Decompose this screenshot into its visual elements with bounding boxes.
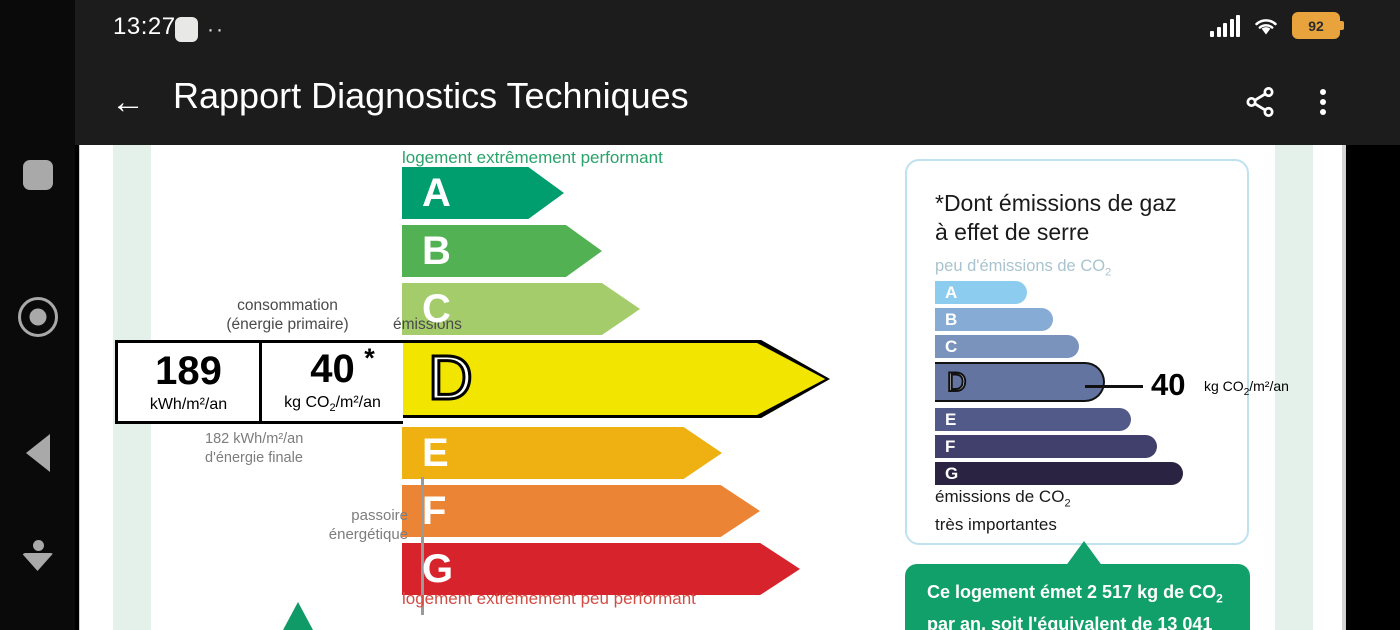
dpe-bar-g-shape xyxy=(402,543,800,595)
co2-value-unit: kg CO2/m²/an xyxy=(1204,378,1289,398)
back-triangle-icon[interactable] xyxy=(0,434,75,472)
co2-footer-line2: très importantes xyxy=(935,515,1057,534)
back-arrow-icon[interactable]: ← xyxy=(105,79,151,125)
dpe-bar-b-letter: B xyxy=(422,231,451,271)
signal-icon xyxy=(1210,15,1240,37)
dpe-bar-a: A xyxy=(402,167,564,219)
wifi-icon xyxy=(1253,15,1279,37)
app-badge-icon xyxy=(175,17,198,42)
dpe-bar-e-shape xyxy=(402,427,722,479)
dpe-bar-a-letter: A xyxy=(422,173,451,213)
status-icons: 92 xyxy=(1210,12,1340,39)
co2-subtitle: peu d'émissions de CO2 xyxy=(935,257,1111,278)
co2-panel: *Dont émissions de gaz à effet de serre … xyxy=(905,159,1249,545)
page-title: Rapport Diagnostics Techniques xyxy=(173,75,689,117)
co2-leader-line xyxy=(1085,385,1143,388)
dpe-top-caption: logement extrêmement performant xyxy=(402,148,663,168)
more-dots-icon: ·· xyxy=(207,27,225,33)
share-icon[interactable] xyxy=(1235,77,1285,127)
consumption-label: consommation (énergie primaire) xyxy=(210,296,365,334)
dpe-bar-c: C xyxy=(402,283,640,335)
dpe-bar-b: B xyxy=(402,225,602,277)
status-bar: 13:27 ·· 92 xyxy=(75,0,1400,57)
left-callout-tip xyxy=(283,602,313,630)
consumption-label-line2: (énergie primaire) xyxy=(226,316,348,333)
dpe-energy-label: logement extrêmement performant A B C xyxy=(80,145,1345,630)
dpe-bar-g-letter: G xyxy=(422,549,453,589)
co2-bar-c: C xyxy=(935,335,1079,358)
co2-bar-b: B xyxy=(935,308,1053,331)
recents-square-icon[interactable] xyxy=(0,160,75,190)
co2-footer: émissions de CO2 très importantes xyxy=(935,486,1071,536)
final-energy-line2: d'énergie finale xyxy=(205,450,303,466)
co2-bar-f: F xyxy=(935,435,1157,458)
co2-bar-d: D xyxy=(935,362,1105,402)
co2-bar-g: G xyxy=(935,462,1183,485)
document-viewport[interactable]: logement extrêmement performant A B C xyxy=(75,145,1400,630)
co2-title-line1: *Dont émissions de gaz xyxy=(935,190,1177,216)
final-energy-line1: 182 kWh/m²/an xyxy=(205,431,303,447)
status-clock: 13:27 xyxy=(113,13,176,41)
emissions-star: * xyxy=(364,345,375,372)
passoire-line2: énergétique xyxy=(329,526,408,543)
battery-icon: 92 xyxy=(1292,12,1340,39)
dpe-bar-e: E xyxy=(402,427,722,479)
co2-value: 40 xyxy=(1151,367,1185,403)
battery-percent: 92 xyxy=(1308,18,1324,34)
emissions-unit: kg CO2/m²/an xyxy=(284,394,381,414)
chevron-down-icon[interactable] xyxy=(0,540,75,576)
dpe-value-box: 189 kWh/m²/an 40* kg CO2/m²/an xyxy=(115,340,403,424)
passoire-line1: passoire xyxy=(351,507,408,524)
dpe-bar-f: F xyxy=(402,485,760,537)
co2-title-line2: à effet de serre xyxy=(935,219,1089,245)
emissions-value-cell: 40* kg CO2/m²/an xyxy=(259,343,403,421)
overflow-menu-icon[interactable] xyxy=(1298,77,1348,127)
dpe-bar-d-letter: D xyxy=(428,348,473,410)
emissions-value: 40* xyxy=(310,349,355,389)
final-energy-note: 182 kWh/m²/an d'énergie finale xyxy=(205,430,303,468)
dpe-bar-g: G xyxy=(402,543,800,595)
consumption-value-cell: 189 kWh/m²/an xyxy=(118,343,259,421)
consumption-unit: kWh/m²/an xyxy=(150,396,227,414)
co2-panel-title: *Dont émissions de gaz à effet de serre xyxy=(935,189,1215,247)
app-bar: ← Rapport Diagnostics Techniques xyxy=(75,57,1400,145)
passoire-label: passoire énergétique xyxy=(298,506,408,544)
co2-callout: Ce logement émet 2 517 kg de CO2 par an,… xyxy=(905,564,1250,630)
consumption-label-line1: consommation xyxy=(237,297,338,314)
dpe-bottom-caption: logement extrêmement peu performant xyxy=(402,589,696,609)
home-circle-icon[interactable] xyxy=(0,297,75,337)
pdf-page: logement extrêmement performant A B C xyxy=(80,145,1345,630)
dpe-bar-e-letter: E xyxy=(422,433,449,473)
gesture-nav-rail xyxy=(0,0,75,630)
consumption-value: 189 xyxy=(155,351,222,391)
dpe-bar-f-letter: F xyxy=(422,491,446,531)
co2-bar-a: A xyxy=(935,281,1027,304)
co2-bar-e: E xyxy=(935,408,1131,431)
dpe-bar-f-shape xyxy=(402,485,760,537)
dpe-bar-c-letter: C xyxy=(422,289,451,329)
dpe-bar-d: D xyxy=(400,340,830,418)
phone-screen: 13:27 ·· 92 ← Rapport Diagnostics Techni… xyxy=(0,0,1400,630)
